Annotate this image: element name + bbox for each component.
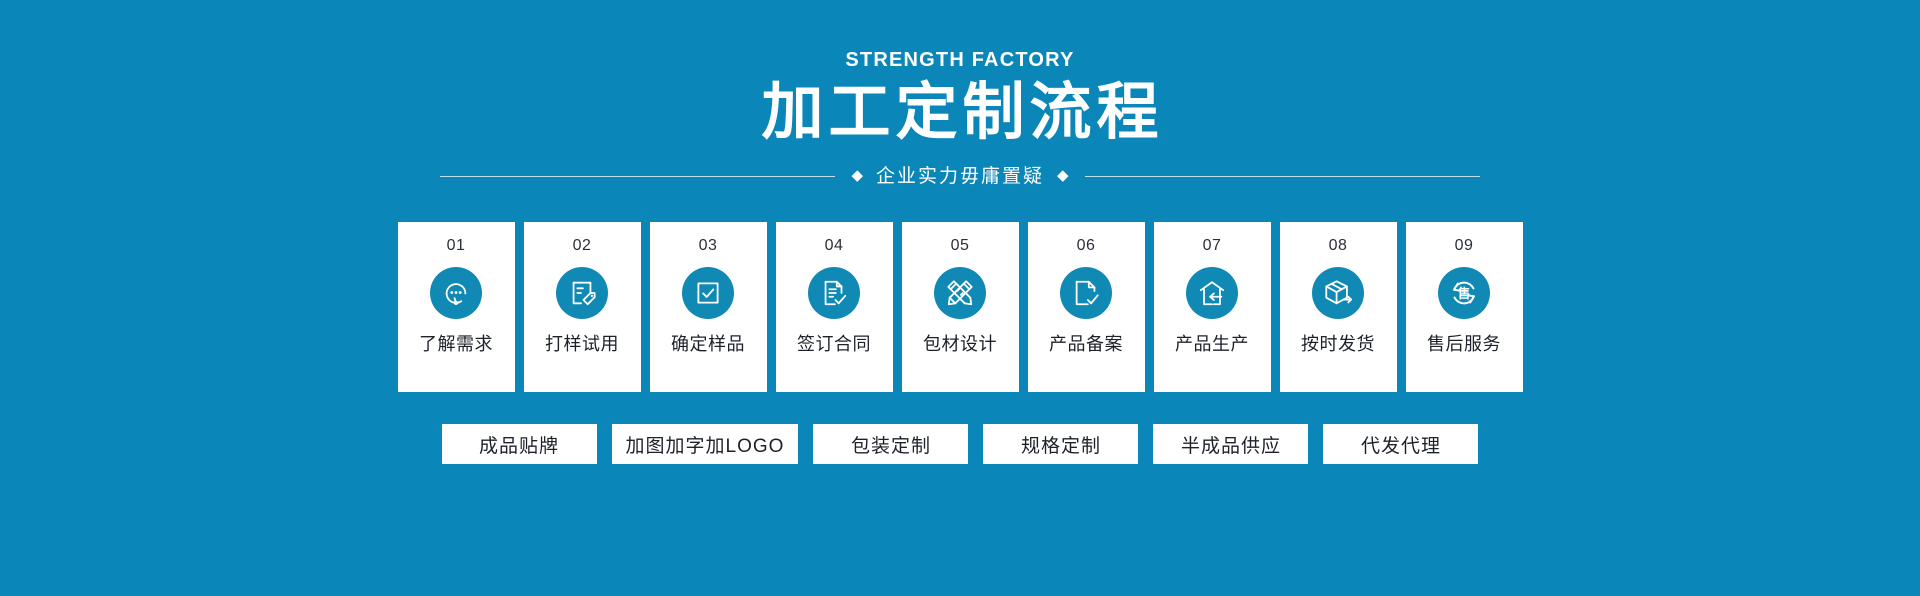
step-card[interactable]: 03 确定样品 (650, 222, 767, 392)
step-number: 08 (1329, 238, 1348, 254)
step-card[interactable]: 09 售 售后服务 (1406, 222, 1523, 392)
service-tag[interactable]: 半成品供应 (1153, 424, 1308, 464)
divider-line-left (440, 176, 835, 177)
step-number: 06 (1077, 238, 1096, 254)
step-label: 产品生产 (1175, 335, 1249, 353)
document-tag-icon (556, 267, 608, 319)
step-number: 09 (1455, 238, 1474, 254)
step-card[interactable]: 02 打样试用 (524, 222, 641, 392)
page-title: 加工定制流程 (0, 80, 1920, 145)
process-steps: 01 了解需求 02 (0, 222, 1920, 392)
promo-banner: STRENGTH FACTORY 加工定制流程 ◆ 企业实力毋庸置疑 ◆ 01 (0, 0, 1920, 596)
step-label: 售后服务 (1427, 335, 1501, 353)
step-label: 产品备案 (1049, 335, 1123, 353)
service-tag-row: 成品贴牌 加图加字加LOGO 包装定制 规格定制 半成品供应 代发代理 (0, 424, 1920, 464)
diamond-left-icon: ◆ (851, 168, 863, 183)
step-card[interactable]: 01 了解需求 (398, 222, 515, 392)
factory-arrow-icon (1186, 267, 1238, 319)
box-arrow-icon (1312, 267, 1364, 319)
divider-center: ◆ 企业实力毋庸置疑 ◆ (835, 167, 1084, 186)
svg-text:售: 售 (1457, 286, 1470, 302)
step-card[interactable]: 08 按时发货 (1280, 222, 1397, 392)
after-sales-refresh-icon: 售 (1438, 267, 1490, 319)
banner-header: STRENGTH FACTORY 加工定制流程 ◆ 企业实力毋庸置疑 ◆ (0, 0, 1920, 186)
divider-line-right (1085, 176, 1480, 177)
step-card[interactable]: 04 签订合同 (776, 222, 893, 392)
step-label: 签订合同 (797, 335, 871, 353)
step-number: 01 (447, 238, 466, 254)
step-card[interactable]: 05 包材设计 (902, 222, 1019, 392)
step-label: 包材设计 (923, 335, 997, 353)
checkbox-check-icon (682, 267, 734, 319)
service-tag[interactable]: 规格定制 (983, 424, 1138, 464)
service-tag[interactable]: 成品贴牌 (442, 424, 597, 464)
step-number: 05 (951, 238, 970, 254)
step-label: 打样试用 (545, 335, 619, 353)
step-label: 按时发货 (1301, 335, 1375, 353)
service-tag[interactable]: 包装定制 (813, 424, 968, 464)
divider: ◆ 企业实力毋庸置疑 ◆ (440, 167, 1480, 186)
step-number: 07 (1203, 238, 1222, 254)
step-number: 04 (825, 238, 844, 254)
step-number: 02 (573, 238, 592, 254)
file-approved-icon (1060, 267, 1112, 319)
chat-bubble-dots-icon (430, 267, 482, 319)
diamond-right-icon: ◆ (1057, 168, 1069, 183)
step-label: 确定样品 (671, 335, 745, 353)
step-label: 了解需求 (419, 335, 493, 353)
pencil-ruler-icon (934, 267, 986, 319)
contract-check-icon (808, 267, 860, 319)
step-card[interactable]: 06 产品备案 (1028, 222, 1145, 392)
service-tag[interactable]: 代发代理 (1323, 424, 1478, 464)
eyebrow-text: STRENGTH FACTORY (0, 50, 1920, 70)
service-tag[interactable]: 加图加字加LOGO (612, 424, 799, 464)
step-card[interactable]: 07 产品生产 (1154, 222, 1271, 392)
divider-text: 企业实力毋庸置疑 (876, 167, 1044, 186)
step-number: 03 (699, 238, 718, 254)
